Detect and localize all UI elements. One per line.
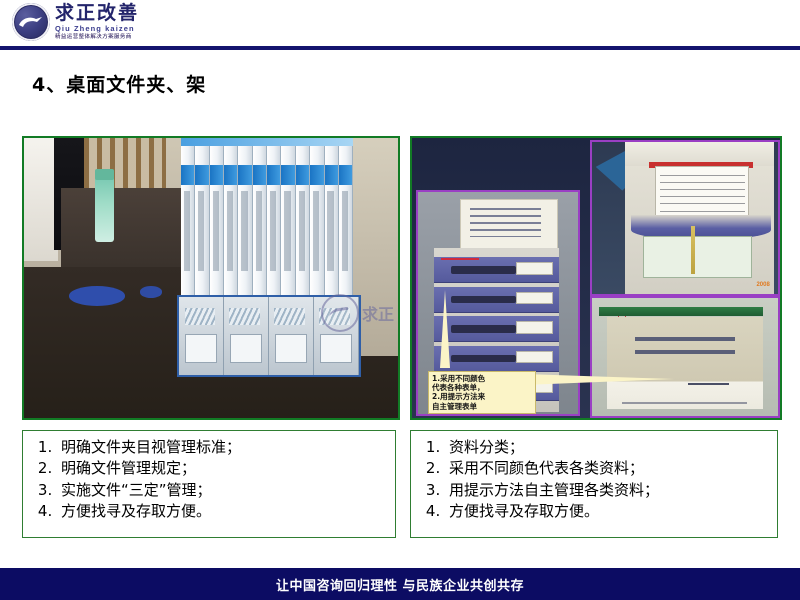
drawer-handle	[451, 266, 516, 273]
brand-name-en: Qiu Zheng kaizen	[55, 25, 139, 33]
brand-tagline: 精益运营整体解决方案服务商	[55, 35, 139, 41]
callout-line-1: 1.采用不同颜色	[432, 374, 532, 383]
list-item: 明确文件夹目视管理标准；	[57, 437, 385, 458]
posted-notice-sheet	[460, 199, 558, 250]
tray-cell	[269, 297, 314, 375]
open-drawer-photo: 2008	[590, 140, 780, 296]
header-divider	[0, 46, 800, 50]
date-stamp: 2008	[756, 282, 769, 288]
yellow-marker-stick	[691, 226, 695, 275]
footer-note-line	[622, 402, 747, 405]
list-item: 明确文件管理规定；	[57, 458, 385, 479]
drawer-handle	[451, 355, 516, 362]
slide-header: 求正改善 Qiu Zheng kaizen 精益运营整体解决方案服务商	[0, 0, 800, 48]
drawer-handle	[451, 296, 516, 303]
drawer-label	[516, 292, 553, 304]
callout-line-2: 代表各种表单，	[432, 383, 532, 392]
watermark: 求正	[321, 294, 394, 332]
photo-scene-left: 求正	[24, 138, 398, 418]
circular-swoosh-logo-icon	[12, 3, 50, 41]
drawer-contents	[643, 236, 752, 278]
right-bullet-box: 资料分类； 采用不同颜色代表各类资料； 用提示方法自主管理各类资料； 方便找寻及…	[410, 430, 778, 538]
drawer-label	[516, 321, 553, 333]
list-item: 采用不同颜色代表各类资料；	[445, 458, 767, 479]
list-item: 方便找寻及存取方便。	[57, 501, 385, 522]
blue-marker-spot-small	[140, 286, 162, 297]
water-bottle	[95, 177, 114, 241]
list-item: 方便找寻及存取方便。	[445, 501, 767, 522]
drawer-label	[516, 262, 553, 274]
callout-line-3: 2.用提示方法来	[432, 392, 532, 401]
footer-slogan: 让中国咨询回归理性 与民族企业共创共存	[276, 575, 524, 594]
page-title: 4、桌面文件夹、架	[32, 70, 206, 97]
window-light	[24, 138, 58, 261]
list-item: 用提示方法自主管理各类资料；	[445, 480, 767, 501]
callout-pointer-vertical	[440, 290, 450, 368]
form-sheet	[655, 166, 749, 220]
brand-logo: 求正改善 Qiu Zheng kaizen 精益运营整体解决方案服务商	[12, 3, 139, 41]
cabinet-drawer	[434, 346, 559, 372]
list-item: 实施文件“三定”管理；	[57, 480, 385, 501]
watermark-text: 求正	[362, 301, 394, 325]
callout-line-4: 自主管理表单	[432, 402, 532, 411]
tray-cell	[179, 297, 224, 375]
list-item: 资料分类；	[445, 437, 767, 458]
cabinet-drawer	[434, 316, 559, 342]
cabinet-shell: 2008	[625, 142, 774, 294]
cabinet-drawer	[434, 257, 559, 283]
left-bullet-box: 明确文件夹目视管理标准； 明确文件管理规定； 实施文件“三定”管理； 方便找寻及…	[22, 430, 396, 538]
callout-box: 1.采用不同颜色 代表各种表单， 2.用提示方法来 自主管理表单	[428, 371, 536, 415]
right-bullet-list: 资料分类； 采用不同颜色代表各类资料； 用提示方法自主管理各类资料； 方便找寻及…	[419, 437, 767, 522]
slide-footer: 让中国咨询回归理性 与民族企业共创共存	[0, 568, 800, 600]
notice-document-photo	[590, 296, 780, 418]
watermark-logo-icon	[321, 294, 359, 332]
brand-name-cn: 求正改善	[55, 4, 139, 23]
callout-pointer-horizontal	[524, 374, 782, 385]
file-cabinet-photos: 2008 1.采用不同颜色 代表各种表单， 2.用提示方法来 自主管理表单	[410, 136, 782, 420]
desk-binder-rack-photo: 求正	[22, 136, 400, 420]
left-bullet-list: 明确文件夹目视管理标准； 明确文件管理规定； 实施文件“三定”管理； 方便找寻及…	[31, 437, 385, 522]
red-label-strip	[441, 258, 478, 260]
notice-paper	[607, 317, 763, 409]
green-binder-clip	[599, 307, 763, 315]
swoosh-icon	[18, 15, 44, 30]
cabinet-drawer	[434, 287, 559, 313]
tray-cell	[224, 297, 269, 375]
brand-text: 求正改善 Qiu Zheng kaizen 精益运营整体解决方案服务商	[55, 4, 139, 40]
photo-scene-right: 2008 1.采用不同颜色 代表各种表单， 2.用提示方法来 自主管理表单	[412, 138, 780, 418]
drawer-label	[516, 351, 553, 363]
blue-marker-spot	[69, 286, 125, 306]
drawer-handle	[451, 325, 516, 332]
